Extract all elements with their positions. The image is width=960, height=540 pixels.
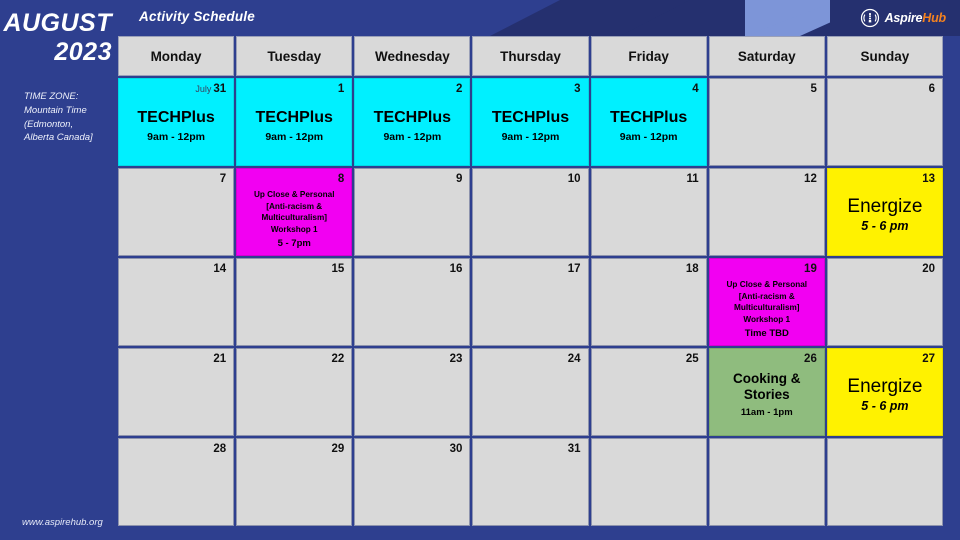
day-number: 27 [922,354,935,366]
day-number: July31 [195,84,226,96]
logo-wordmark: AspireHub [885,11,946,25]
day-number: 30 [450,444,463,456]
calendar-day-cell[interactable]: 17 [472,258,588,346]
event-block[interactable]: Energize5 - 6 pm [828,377,942,413]
day-number: 19 [804,264,817,276]
day-number: 29 [331,444,344,456]
calendar-day-cell[interactable]: 18 [591,258,707,346]
event-title-line: Up Close & Personal [240,189,348,201]
calendar-day-cell[interactable]: 23 [354,348,470,436]
event-title-line: [Anti-racism & [240,201,348,213]
day-number: 9 [456,174,462,186]
calendar-day-cell[interactable]: 1TECHPlus9am - 12pm [236,78,352,166]
calendar-day-cell[interactable]: 6 [827,78,943,166]
calendar-day-cell[interactable]: 5 [709,78,825,166]
calendar-day-cell[interactable]: 15 [236,258,352,346]
website-link[interactable]: www.aspirehub.org [22,517,103,528]
event-block[interactable]: TECHPlus9am - 12pm [355,109,469,143]
calendar-day-cell[interactable]: 20 [827,258,943,346]
sidebar: AUGUST 2023 TIME ZONE: Mountain Time (Ed… [0,0,118,540]
calendar-day-cell[interactable] [827,438,943,526]
day-number: 25 [686,354,699,366]
event-title: TECHPlus [122,109,230,127]
timezone-line-3: Alberta Canada] [24,131,114,145]
event-time: 11am - 1pm [713,407,821,418]
calendar-day-cell[interactable]: 12 [709,168,825,256]
calendar-day-cell[interactable]: 25 [591,348,707,436]
event-title: TECHPlus [595,109,703,127]
day-number: 13 [922,174,935,186]
day-number: 6 [929,84,935,96]
event-title-line: Up Close & Personal [713,279,821,291]
day-number: 5 [810,84,816,96]
calendar-week-row: 78Up Close & Personal[Anti-racism &Multi… [118,168,943,256]
event-time: Time TBD [713,328,821,339]
event-title-line: Stories [713,387,821,403]
event-block[interactable]: Energize5 - 6 pm [828,197,942,233]
calendar-week-row: July31TECHPlus9am - 12pm1TECHPlus9am - 1… [118,78,943,166]
calendar-day-cell[interactable]: 9 [354,168,470,256]
event-title-line: Cooking & [713,371,821,387]
calendar-week-row: 212223242526Cooking &Stories11am - 1pm27… [118,348,943,436]
day-header-thursday: Thursday [472,36,588,76]
event-title-line: [Anti-racism & [713,291,821,303]
day-number: 7 [220,174,226,186]
day-number: 14 [213,264,226,276]
event-title: Up Close & Personal[Anti-racism &Multicu… [240,189,348,236]
day-number: 11 [687,174,699,186]
calendar-day-cell[interactable]: 31 [472,438,588,526]
day-number: 18 [686,264,699,276]
timezone-line-2: (Edmonton, [24,118,114,132]
day-number: 10 [568,174,581,186]
day-number: 21 [213,354,226,366]
event-block[interactable]: TECHPlus9am - 12pm [473,109,587,143]
calendar-day-cell[interactable]: July31TECHPlus9am - 12pm [118,78,234,166]
day-number: 16 [450,264,463,276]
day-number: 15 [331,264,344,276]
day-number: 12 [804,174,817,186]
day-number: 22 [331,354,344,366]
event-time: 9am - 12pm [240,131,348,143]
lighthouse-badge-icon [860,8,880,28]
event-title: Energize [831,377,939,397]
day-number-prefix: July [195,84,211,94]
event-title: TECHPlus [358,109,466,127]
calendar-day-cell[interactable] [591,438,707,526]
calendar-day-cell[interactable]: 4TECHPlus9am - 12pm [591,78,707,166]
event-block[interactable]: TECHPlus9am - 12pm [237,109,351,143]
brand-logo[interactable]: AspireHub [860,8,946,28]
event-title-line: Workshop 1 [240,224,348,236]
event-block[interactable]: Up Close & Personal[Anti-racism &Multicu… [237,189,351,249]
day-number: 8 [338,174,344,186]
day-number: 26 [804,354,817,366]
day-number: 28 [213,444,226,456]
calendar-day-cell[interactable]: 21 [118,348,234,436]
event-block[interactable]: Up Close & Personal[Anti-racism &Multicu… [710,279,824,339]
day-number: 24 [568,354,581,366]
day-header-wednesday: Wednesday [354,36,470,76]
calendar-grid: Monday Tuesday Wednesday Thursday Friday… [118,36,943,528]
day-number: 31 [568,444,581,456]
event-title: TECHPlus [240,109,348,127]
calendar-day-cell[interactable]: 27Energize5 - 6 pm [827,348,943,436]
logo-aspire-text: Aspire [885,11,923,25]
calendar-day-cell[interactable]: 7 [118,168,234,256]
event-time: 5 - 6 pm [831,219,939,233]
calendar-day-cell[interactable]: 3TECHPlus9am - 12pm [472,78,588,166]
calendar-day-cell[interactable]: 24 [472,348,588,436]
event-time: 5 - 6 pm [831,399,939,413]
calendar-day-cell[interactable]: 13Energize5 - 6 pm [827,168,943,256]
day-header-friday: Friday [591,36,707,76]
page-title: Activity Schedule [139,9,255,24]
event-title-line: Multiculturalism] [240,212,348,224]
month-label: AUGUST [0,10,112,37]
year-label: 2023 [0,38,112,67]
day-header-row: Monday Tuesday Wednesday Thursday Friday… [118,36,943,76]
calendar-day-cell[interactable]: 11 [591,168,707,256]
calendar-day-cell[interactable]: 19Up Close & Personal[Anti-racism &Multi… [709,258,825,346]
day-number: 4 [692,84,698,96]
day-number: 17 [568,264,581,276]
event-time: 5 - 7pm [240,238,348,249]
calendar-day-cell[interactable]: 2TECHPlus9am - 12pm [354,78,470,166]
calendar-week-row: 141516171819Up Close & Personal[Anti-rac… [118,258,943,346]
day-number: 20 [922,264,935,276]
event-time: 9am - 12pm [122,131,230,143]
calendar-day-cell[interactable]: 28 [118,438,234,526]
timezone-block: TIME ZONE: Mountain Time (Edmonton, Albe… [24,90,114,145]
day-number: 23 [450,354,463,366]
day-header-monday: Monday [118,36,234,76]
event-title: Up Close & Personal[Anti-racism &Multicu… [713,279,821,326]
calendar-day-cell[interactable]: 14 [118,258,234,346]
day-header-saturday: Saturday [709,36,825,76]
event-time: 9am - 12pm [358,131,466,143]
timezone-line-0: TIME ZONE: [24,90,114,104]
event-title-line: Multiculturalism] [713,302,821,314]
event-title: Cooking &Stories [713,371,821,403]
calendar-day-cell[interactable]: 8Up Close & Personal[Anti-racism &Multic… [236,168,352,256]
event-block[interactable]: Cooking &Stories11am - 1pm [710,371,824,418]
logo-hub-text: Hub [922,11,946,25]
calendar-day-cell[interactable]: 16 [354,258,470,346]
calendar-day-cell[interactable]: 22 [236,348,352,436]
event-title: Energize [831,197,939,217]
day-header-sunday: Sunday [827,36,943,76]
event-title-line: Workshop 1 [713,314,821,326]
event-time: 9am - 12pm [476,131,584,143]
event-title: TECHPlus [476,109,584,127]
calendar-day-cell[interactable]: 26Cooking &Stories11am - 1pm [709,348,825,436]
calendar-day-cell[interactable]: 29 [236,438,352,526]
event-time: 9am - 12pm [595,131,703,143]
day-number: 1 [338,84,344,96]
timezone-line-1: Mountain Time [24,104,114,118]
day-header-tuesday: Tuesday [236,36,352,76]
day-number: 2 [456,84,462,96]
calendar-week-row: 28293031 [118,438,943,526]
event-block[interactable]: TECHPlus9am - 12pm [592,109,706,143]
day-number: 3 [574,84,580,96]
calendar-weeks: July31TECHPlus9am - 12pm1TECHPlus9am - 1… [118,78,943,526]
event-block[interactable]: TECHPlus9am - 12pm [119,109,233,143]
calendar-page: Activity Schedule AspireHub AUGUST 2023 … [0,0,960,540]
calendar-day-cell[interactable]: 30 [354,438,470,526]
calendar-day-cell[interactable]: 10 [472,168,588,256]
calendar-day-cell[interactable] [709,438,825,526]
